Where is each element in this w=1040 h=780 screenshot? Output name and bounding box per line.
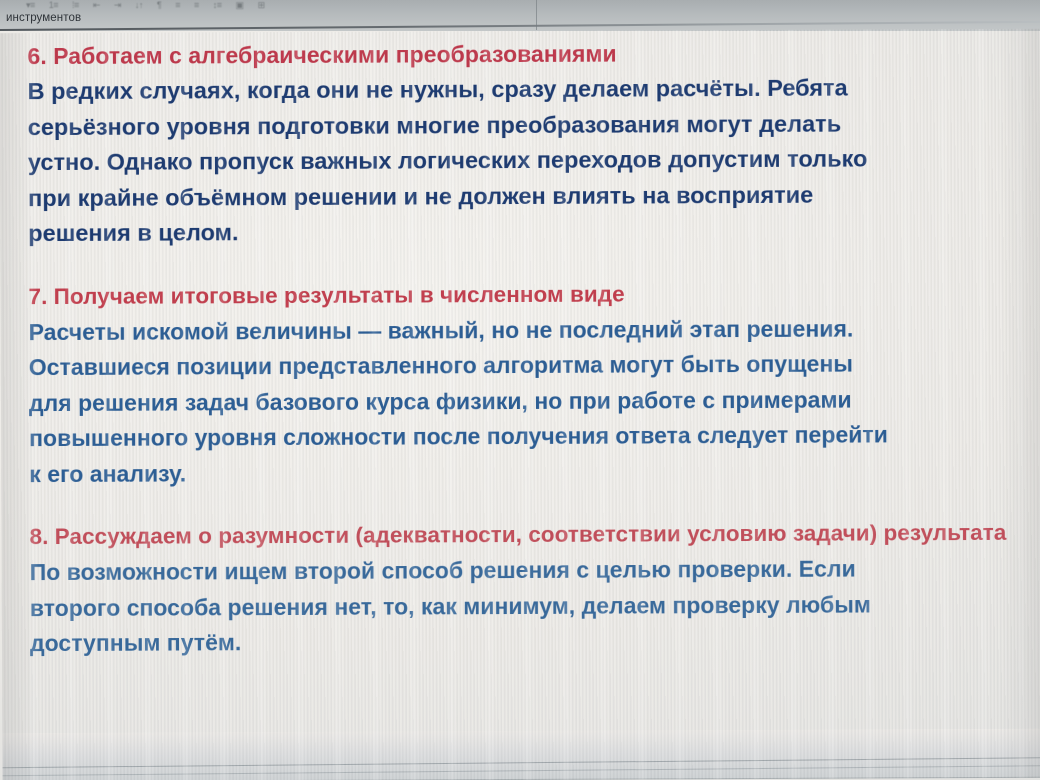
- body-line: Оставшиеся позиции представленного алгор…: [29, 346, 1019, 386]
- toolbar-truncated-label: инструментов: [6, 12, 81, 24]
- section-7-heading: 7. Получаем итоговые результаты в числен…: [28, 277, 1018, 311]
- show-marks-icon[interactable]: ¶: [157, 1, 161, 10]
- body-line: доступным путём.: [30, 622, 1020, 662]
- body-line: второго способа решения нет, то, как мин…: [30, 586, 1020, 626]
- body-line: для решения задач базового курса физики,…: [29, 381, 1019, 421]
- section-8: 8. Рассуждаем о разумности (адекватности…: [29, 518, 1020, 662]
- document-page: 6. Работаем с алгебраическими преобразов…: [0, 31, 1040, 780]
- body-line: серьёзного уровня подготовки многие прео…: [28, 105, 1018, 145]
- document-content: 6. Работаем с алгебраическими преобразов…: [27, 37, 1020, 662]
- section-7: 7. Получаем итоговые результаты в числен…: [28, 277, 1019, 492]
- body-line: повышенного уровня сложности после получ…: [29, 417, 1019, 457]
- page-bottom-band: [2, 729, 1040, 780]
- screen-photo: ▾≡ 1≡ ⁞≡ ⇤ ⇥ ↓↑ ¶ ≡ ≡ ↕≡ ▣ ⊞ инструменто…: [0, 0, 1040, 780]
- align-left-icon[interactable]: ≡: [175, 1, 180, 10]
- body-line: В редких случаях, когда они не нужны, ср…: [28, 70, 1018, 110]
- sort-icon[interactable]: ↓↑: [135, 1, 143, 10]
- bullet-list-icon[interactable]: ▾≡: [26, 1, 35, 10]
- section-spacer: [29, 488, 1019, 522]
- section-spacer: [28, 247, 1018, 281]
- body-line: при крайне объёмном решении и не должен …: [28, 176, 1018, 216]
- section-7-body: Расчеты искомой величины — важный, но не…: [29, 310, 1020, 492]
- borders-icon[interactable]: ⊞: [258, 1, 265, 10]
- shading-icon[interactable]: ▣: [236, 1, 244, 10]
- section-6: 6. Работаем с алгебраическими преобразов…: [27, 37, 1018, 252]
- increase-indent-icon[interactable]: ⇥: [114, 1, 121, 10]
- section-6-heading: 6. Работаем с алгебраическими преобразов…: [27, 37, 1017, 71]
- section-8-heading: 8. Рассуждаем о разумности (адекватности…: [29, 518, 1019, 552]
- numbered-list-icon[interactable]: 1≡: [49, 1, 58, 10]
- body-line: устно. Однако пропуск важных логических …: [28, 141, 1018, 181]
- section-8-body: По возможности ищем второй способ решени…: [30, 551, 1020, 662]
- body-line: Расчеты искомой величины — важный, но не…: [29, 310, 1019, 350]
- section-6-body: В редких случаях, когда они не нужны, ср…: [28, 70, 1019, 252]
- align-center-icon[interactable]: ≡: [194, 1, 199, 10]
- body-line: решения в целом.: [28, 212, 1018, 252]
- line-spacing-icon[interactable]: ↕≡: [213, 1, 222, 10]
- toolbar-icon-group[interactable]: ▾≡ 1≡ ⁞≡ ⇤ ⇥ ↓↑ ¶ ≡ ≡ ↕≡ ▣ ⊞: [26, 0, 265, 11]
- decrease-indent-icon[interactable]: ⇤: [93, 1, 100, 10]
- body-line: По возможности ищем второй способ решени…: [30, 551, 1020, 591]
- body-line: к его анализу.: [29, 452, 1019, 492]
- application-toolbar[interactable]: ▾≡ 1≡ ⁞≡ ⇤ ⇥ ↓↑ ¶ ≡ ≡ ↕≡ ▣ ⊞ инструменто…: [0, 0, 1040, 31]
- multilevel-list-icon[interactable]: ⁞≡: [72, 1, 79, 10]
